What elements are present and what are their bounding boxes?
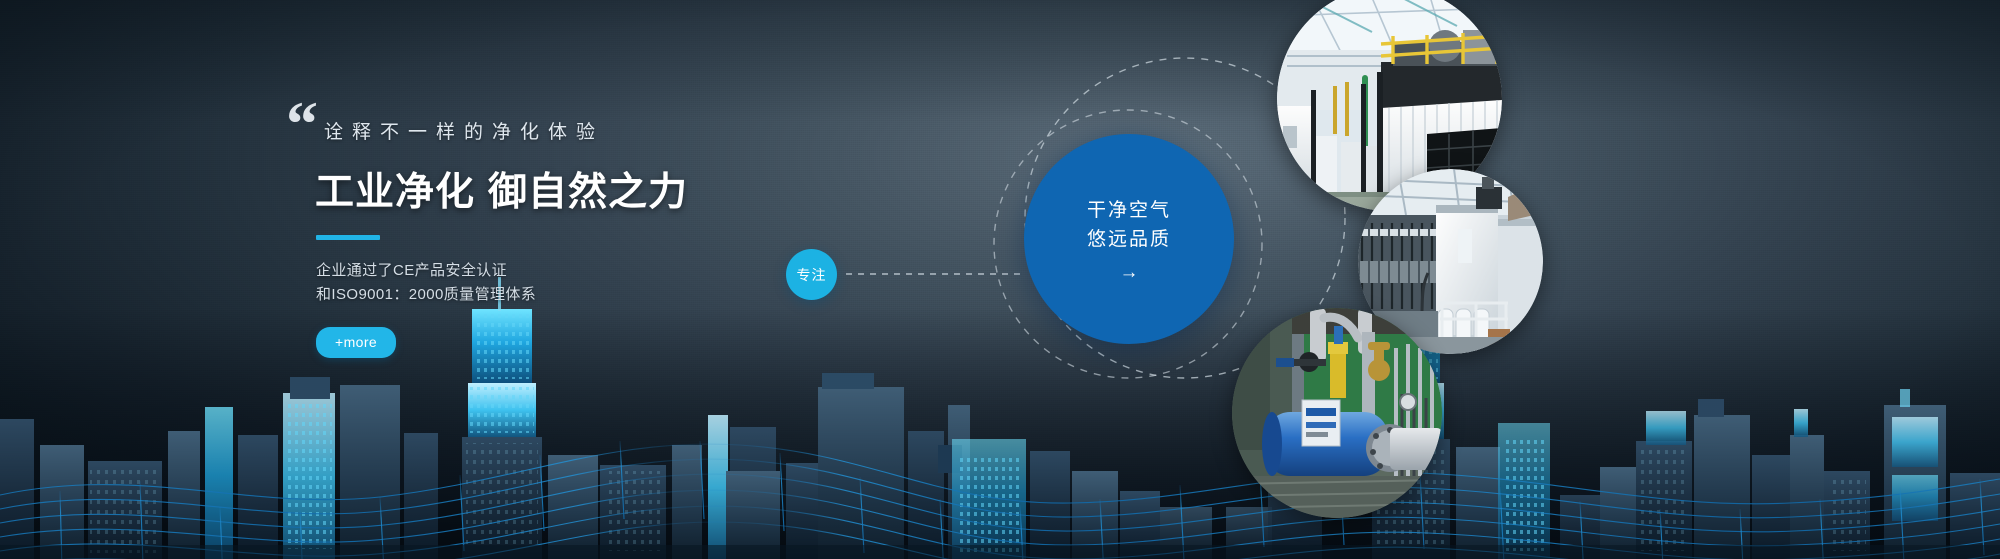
headline-part-1: 工业净化 — [315, 171, 475, 214]
hero-copy-block: “ 诠释不一样的净化体验 工业净化御自然之力 企业通过了CE产品安全认证 和IS… — [286, 92, 906, 358]
description-line-1: 企业通过了CE产品安全认证 — [316, 259, 906, 283]
photo-blue-pressure-vessel-piping[interactable] — [1232, 308, 1442, 518]
hub-circle[interactable]: 干净空气 悠远品质 → — [1024, 134, 1234, 344]
hub-line-2: 悠远品质 — [1087, 225, 1171, 254]
hero-description: 企业通过了CE产品安全认证 和ISO9001：2000质量管理体系 — [316, 259, 906, 308]
hero-headline: 工业净化御自然之力 — [315, 161, 906, 217]
description-line-2: 和ISO9001：2000质量管理体系 — [316, 283, 906, 307]
headline-part-2: 御自然之力 — [488, 171, 688, 214]
accent-rule — [316, 235, 380, 240]
hero-banner: 专注 干净空气 悠远品质 → “ 诠释不一样的净化体验 工业净化御自然之力 企业… — [0, 0, 2000, 559]
hub-line-1: 干净空气 — [1087, 196, 1171, 225]
more-button[interactable]: +more — [316, 327, 396, 358]
hero-tagline: 诠释不一样的净化体验 — [324, 117, 906, 144]
quote-mark-icon: “ — [286, 92, 314, 156]
arrow-right-icon[interactable]: → — [1120, 263, 1139, 282]
